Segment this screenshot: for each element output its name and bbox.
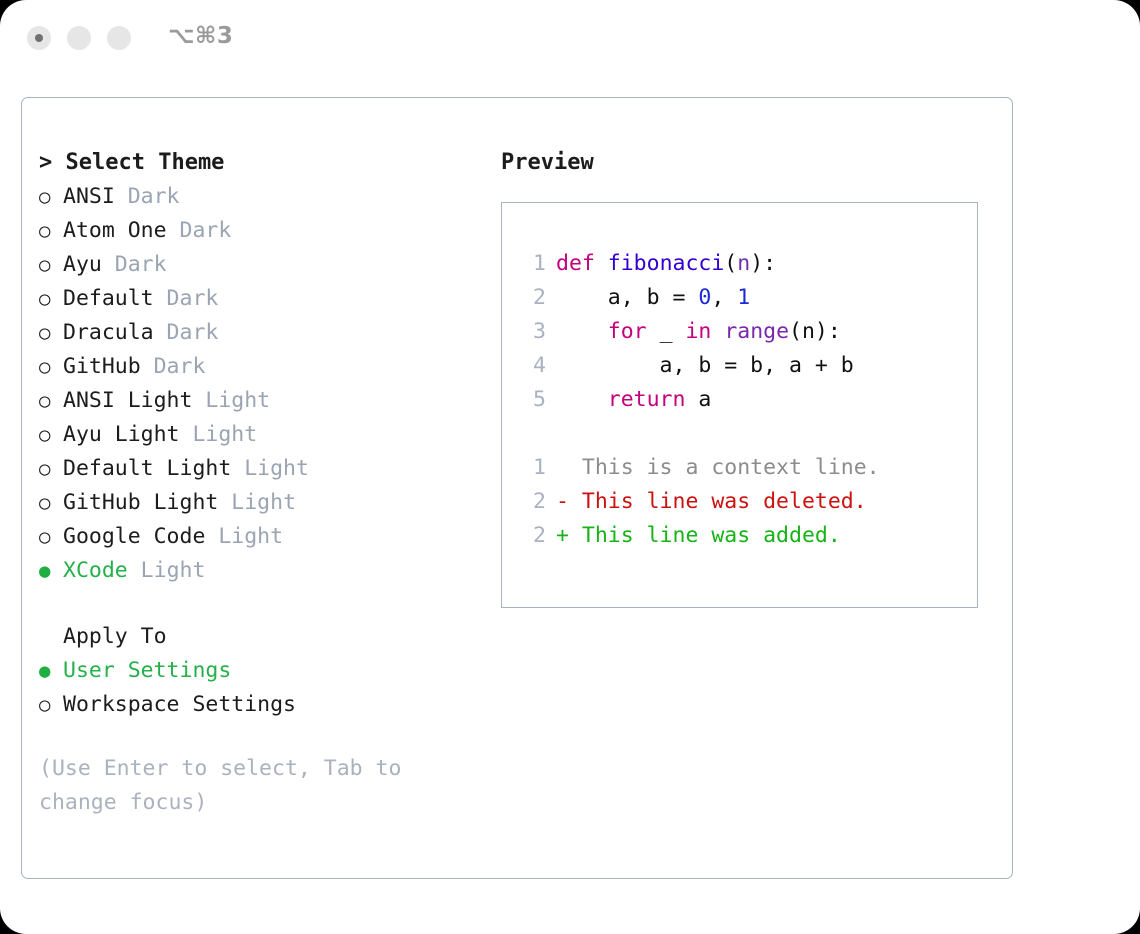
theme-option-label: GitHub Light — [63, 490, 218, 515]
theme-variant-badge: Dark — [167, 218, 232, 243]
preview-column: Preview 1def fibonacci(n):2 a, b = 0, 13… — [501, 146, 991, 608]
code-token: _ — [647, 319, 686, 344]
theme-option-label: Default Light — [63, 456, 231, 481]
theme-list: ○ANSI Dark○Atom One Dark○Ayu Dark○Defaul… — [39, 180, 479, 588]
code-line: 4 a, b = b, a + b — [520, 349, 960, 383]
theme-option-label: Atom One — [63, 218, 167, 243]
theme-variant-badge: Dark — [102, 252, 167, 277]
diff-text: This is a context line. — [569, 455, 880, 480]
radio-unselected-icon: ○ — [39, 282, 63, 316]
app-window: ⌥⌘3 > Select Theme ○ANSI Dark○Atom One D… — [0, 0, 1140, 934]
radio-selected-icon: ● — [39, 554, 63, 588]
diff-line-add: 2+ This line was added. — [520, 519, 960, 553]
radio-unselected-icon: ○ — [39, 350, 63, 384]
theme-option-label: XCode — [63, 558, 128, 583]
theme-option-xcode[interactable]: ●XCode Light — [39, 554, 479, 588]
radio-unselected-icon: ○ — [39, 486, 63, 520]
code-token: in — [685, 319, 711, 344]
apply-to-option-label: Workspace Settings — [63, 692, 296, 717]
code-token: def — [556, 251, 595, 276]
theme-option-ayu[interactable]: ○Ayu Dark — [39, 248, 479, 282]
preview-box: 1def fibonacci(n):2 a, b = 0, 13 for _ i… — [501, 202, 978, 608]
code-token: 1 — [737, 285, 750, 310]
diff-text: This line was added. — [569, 523, 841, 548]
radio-unselected-icon: ○ — [39, 520, 63, 554]
theme-option-dracula[interactable]: ○Dracula Dark — [39, 316, 479, 350]
code-token: for — [608, 319, 647, 344]
theme-variant-badge: Light — [231, 456, 309, 481]
radio-unselected-icon: ○ — [39, 452, 63, 486]
theme-option-label: Default — [63, 286, 154, 311]
code-token — [711, 319, 724, 344]
theme-option-label: ANSI Light — [63, 388, 192, 413]
theme-option-label: Dracula — [63, 320, 154, 345]
apply-to-option-workspace-settings[interactable]: ○Workspace Settings — [39, 688, 479, 722]
theme-option-label: Ayu — [63, 252, 102, 277]
code-line: 2 a, b = 0, 1 — [520, 281, 960, 315]
theme-option-ayu-light[interactable]: ○Ayu Light Light — [39, 418, 479, 452]
radio-unselected-icon: ○ — [39, 316, 63, 350]
main-panel: > Select Theme ○ANSI Dark○Atom One Dark○… — [21, 97, 1013, 879]
radio-unselected-icon: ○ — [39, 384, 63, 418]
theme-option-github-light[interactable]: ○GitHub Light Light — [39, 486, 479, 520]
code-token — [595, 251, 608, 276]
code-line: 1def fibonacci(n): — [520, 247, 960, 281]
theme-variant-badge: Light — [218, 490, 296, 515]
theme-option-default[interactable]: ○Default Dark — [39, 282, 479, 316]
radio-unselected-icon: ○ — [39, 214, 63, 248]
diff-line-del: 2- This line was deleted. — [520, 485, 960, 519]
code-token — [556, 319, 608, 344]
code-token: fibonacci — [608, 251, 725, 276]
theme-variant-badge: Dark — [154, 286, 219, 311]
code-token: ( — [724, 251, 737, 276]
code-token: return — [608, 387, 686, 412]
code-line-number: 3 — [520, 315, 546, 349]
code-line-number: 1 — [520, 247, 546, 281]
theme-variant-badge: Light — [205, 524, 283, 549]
theme-option-label: GitHub — [63, 354, 141, 379]
theme-option-ansi-light[interactable]: ○ANSI Light Light — [39, 384, 479, 418]
apply-to-option-user-settings[interactable]: ●User Settings — [39, 654, 479, 688]
radio-unselected-icon: ○ — [39, 418, 63, 452]
code-line: 5 return a — [520, 383, 960, 417]
diff-line-number: 2 — [520, 519, 546, 553]
theme-picker-column: > Select Theme ○ANSI Dark○Atom One Dark○… — [39, 146, 479, 820]
window-dot-3[interactable] — [107, 26, 131, 50]
theme-option-ansi[interactable]: ○ANSI Dark — [39, 180, 479, 214]
code-token: range — [724, 319, 789, 344]
code-token: , — [711, 285, 737, 310]
diff-line-number: 1 — [520, 451, 546, 485]
diff-sign: + — [556, 523, 569, 548]
theme-option-atom-one[interactable]: ○Atom One Dark — [39, 214, 479, 248]
theme-option-github[interactable]: ○GitHub Dark — [39, 350, 479, 384]
code-token: 0 — [698, 285, 711, 310]
keyboard-hint-text: (Use Enter to select, Tab to change focu… — [39, 752, 449, 820]
code-preview: 1def fibonacci(n):2 a, b = 0, 13 for _ i… — [520, 247, 960, 553]
theme-option-label: Ayu Light — [63, 422, 180, 447]
code-token: a, b = b, a + b — [556, 353, 854, 378]
radio-unselected-icon: ○ — [39, 688, 63, 722]
radio-unselected-icon: ○ — [39, 180, 63, 214]
diff-line-number: 2 — [520, 485, 546, 519]
window-dot-2[interactable] — [67, 26, 91, 50]
preview-title: Preview — [501, 146, 991, 180]
apply-to-option-label: User Settings — [63, 658, 231, 683]
code-token: a — [685, 387, 711, 412]
code-token: ): — [750, 251, 776, 276]
code-line-number: 4 — [520, 349, 546, 383]
code-diff-separator — [520, 417, 960, 451]
diff-line-ctx: 1 This is a context line. — [520, 451, 960, 485]
theme-variant-badge: Light — [128, 558, 206, 583]
theme-option-label: Google Code — [63, 524, 205, 549]
window-dot-active[interactable] — [27, 26, 51, 50]
diff-sign — [556, 455, 569, 480]
theme-option-default-light[interactable]: ○Default Light Light — [39, 452, 479, 486]
theme-variant-badge: Dark — [154, 320, 219, 345]
apply-to-list: ●User Settings○Workspace Settings — [39, 654, 479, 722]
diff-sign: - — [556, 489, 569, 514]
radio-selected-icon: ● — [39, 654, 63, 688]
theme-variant-badge: Light — [192, 388, 270, 413]
diff-text: This line was deleted. — [569, 489, 867, 514]
theme-option-label: ANSI — [63, 184, 115, 209]
code-token: a, b = — [556, 285, 698, 310]
window-dot-active-inner — [35, 34, 43, 42]
code-line: 3 for _ in range(n): — [520, 315, 960, 349]
theme-variant-badge: Dark — [115, 184, 180, 209]
keyboard-shortcut-label: ⌥⌘3 — [168, 23, 233, 49]
apply-to-title: Apply To — [39, 620, 479, 654]
theme-variant-badge: Dark — [141, 354, 206, 379]
code-line-number: 2 — [520, 281, 546, 315]
code-token: (n): — [789, 319, 841, 344]
code-line-number: 5 — [520, 383, 546, 417]
code-token: n — [737, 251, 750, 276]
theme-option-google-code[interactable]: ○Google Code Light — [39, 520, 479, 554]
code-token — [556, 387, 608, 412]
select-theme-header: > Select Theme — [39, 146, 479, 180]
radio-unselected-icon: ○ — [39, 248, 63, 282]
title-bar: ⌥⌘3 — [0, 0, 1140, 78]
theme-variant-badge: Light — [180, 422, 258, 447]
